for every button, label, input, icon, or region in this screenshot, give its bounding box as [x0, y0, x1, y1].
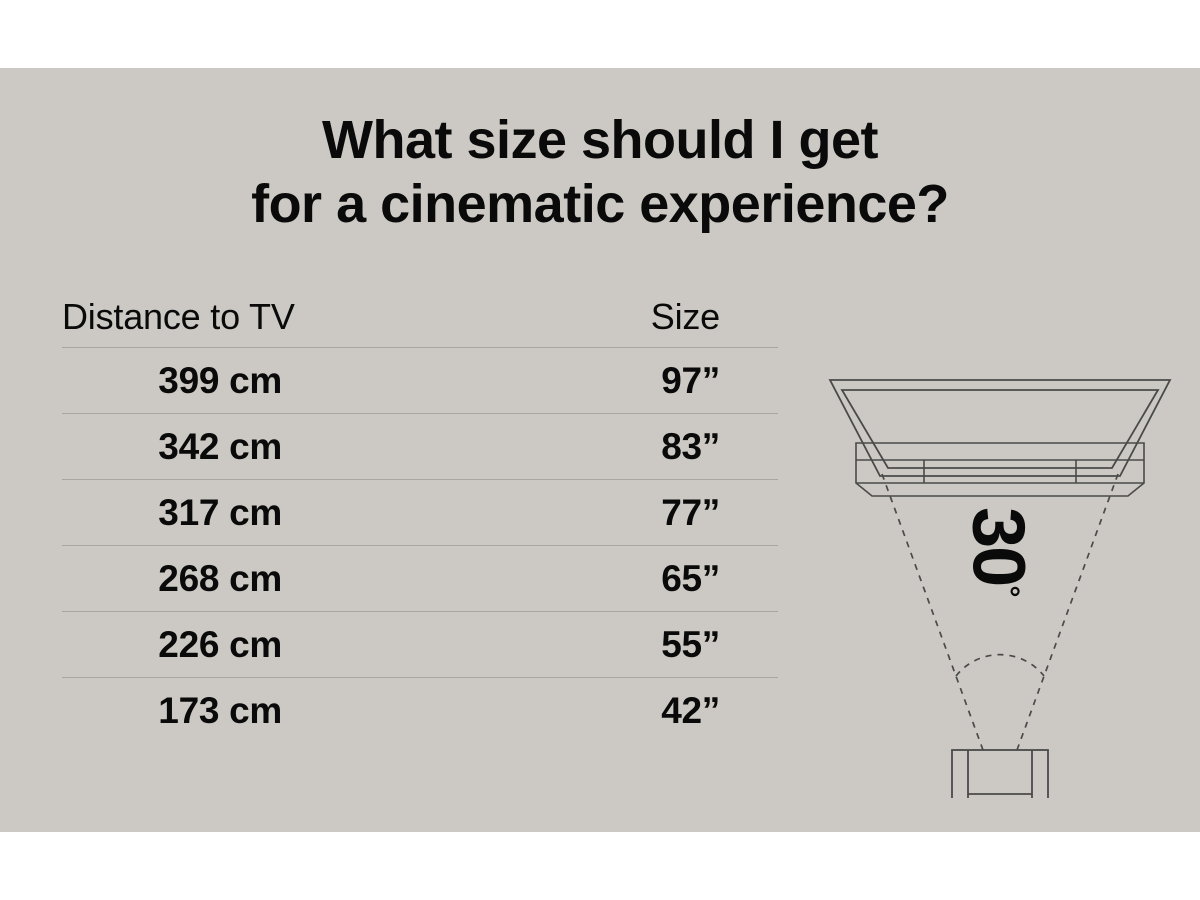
angle-arc-icon	[956, 655, 1044, 676]
table-row: 226 cm 55”	[62, 612, 778, 678]
cell-size: 42”	[580, 690, 778, 732]
cell-distance: 399 cm	[62, 360, 282, 402]
cell-size: 65”	[580, 558, 778, 600]
table-header-row: Distance to TV Size	[62, 286, 778, 348]
cell-size: 83”	[580, 426, 778, 468]
column-header-size: Size	[651, 296, 720, 338]
cell-size: 77”	[580, 492, 778, 534]
screenshot-frame: What size should I get for a cinematic e…	[0, 0, 1200, 900]
title-line-1: What size should I get	[0, 108, 1200, 172]
diagram-svg	[820, 298, 1180, 798]
sofa-icon	[952, 750, 1048, 798]
sightlines-icon	[882, 474, 1118, 750]
table-row: 399 cm 97”	[62, 348, 778, 414]
title-line-2: for a cinematic experience?	[0, 172, 1200, 236]
cell-distance: 268 cm	[62, 558, 282, 600]
column-header-distance: Distance to TV	[62, 296, 295, 338]
size-distance-table: Distance to TV Size 399 cm 97” 342 cm 83…	[62, 286, 778, 744]
table-row: 268 cm 65”	[62, 546, 778, 612]
table-row: 342 cm 83”	[62, 414, 778, 480]
table-row: 317 cm 77”	[62, 480, 778, 546]
table-row: 173 cm 42”	[62, 678, 778, 744]
cell-distance: 173 cm	[62, 690, 282, 732]
page-title: What size should I get for a cinematic e…	[0, 108, 1200, 236]
tv-screen-icon	[830, 380, 1170, 476]
cell-distance: 317 cm	[62, 492, 282, 534]
cell-distance: 226 cm	[62, 624, 282, 666]
tv-stand-icon	[856, 443, 1144, 496]
cell-distance: 342 cm	[62, 426, 282, 468]
infographic-panel: What size should I get for a cinematic e…	[0, 68, 1200, 832]
viewing-angle-diagram	[820, 298, 1180, 798]
cell-size: 55”	[580, 624, 778, 666]
cell-size: 97”	[580, 360, 778, 402]
